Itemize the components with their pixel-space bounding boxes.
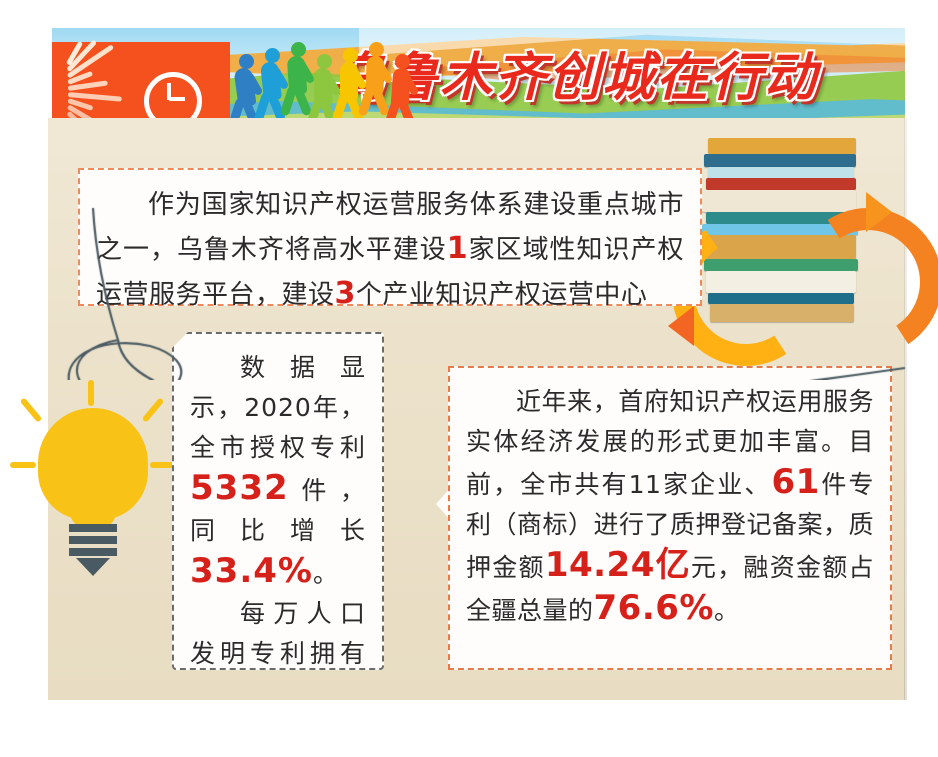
highlight-number: 5332	[190, 468, 289, 508]
highlight-number: 33.4%	[190, 551, 313, 591]
intro-text: 作为国家知识产权运营服务体系建设重点城市之一，乌鲁木齐将高水平建设1家区域性知识…	[96, 184, 684, 317]
intro-box: 作为国家知识产权运营服务体系建设重点城市之一，乌鲁木齐将高水平建设1家区域性知识…	[78, 168, 702, 306]
lightbulb-icon	[10, 380, 190, 700]
header-banner: 乌鲁木齐创城在行动	[52, 28, 905, 124]
book	[702, 190, 856, 212]
highlight-number: 14.24亿	[545, 545, 691, 585]
pledge-financing-box: 近年来，首府知识产权运用服务实体经济发展的形式更加丰富。目前，全市共有11家企业…	[448, 366, 892, 670]
highlight-number: 3	[335, 276, 356, 311]
swirl-clock-logo-icon	[52, 42, 230, 124]
recycle-arrow-head-right	[866, 192, 892, 232]
highlight-number: 61	[771, 462, 819, 502]
body-text: 数据显示，2020年，全市授权专利	[190, 353, 366, 462]
book	[708, 167, 854, 178]
pledge-financing-text: 近年来，首府知识产权运用服务实体经济发展的形式更加丰富。目前，全市共有11家企业…	[466, 382, 874, 631]
book	[708, 138, 856, 154]
bottom-margin	[0, 700, 938, 756]
highlight-number: 76.6%	[594, 588, 714, 628]
patent-stats-box: 数据显示，2020年，全市授权专利5332件，同比增长33.4%。 每万人口发明…	[172, 332, 384, 670]
body-text: 。	[714, 596, 740, 625]
highlight-number: 1	[447, 231, 468, 266]
book	[706, 178, 856, 190]
patent-stats-paragraph-1: 数据显示，2020年，全市授权专利5332件，同比增长33.4%。	[190, 348, 366, 594]
running-figure-icon	[386, 54, 420, 124]
body-text: 。	[313, 559, 339, 588]
body-text: 个产业知识产权运营中心	[356, 280, 648, 310]
clock-icon	[144, 72, 202, 124]
book	[704, 154, 856, 167]
book-stack-recycle-icon	[690, 130, 900, 330]
